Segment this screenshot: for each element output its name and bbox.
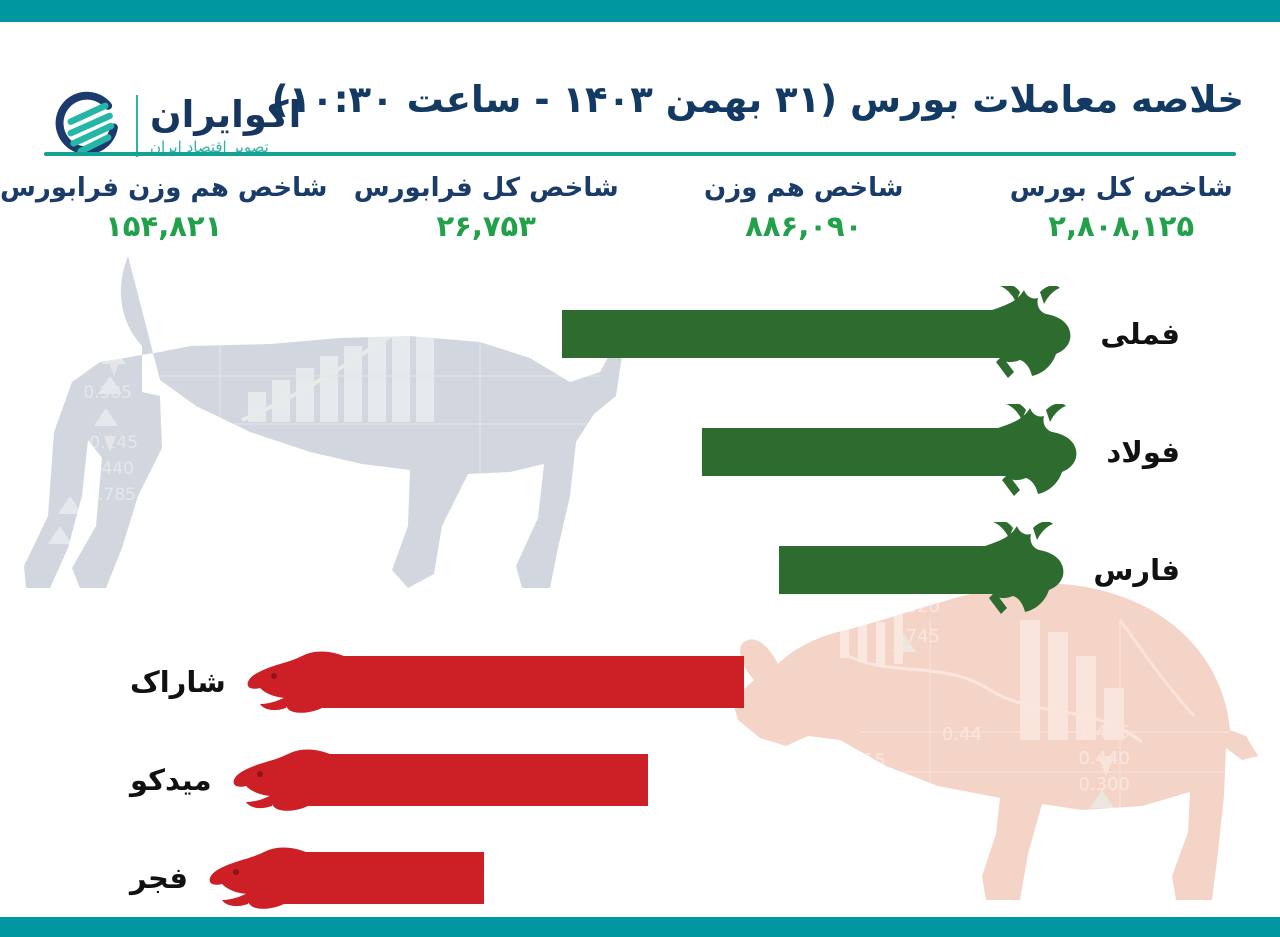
index-card-total-farabourse: شاخص کل فرابورس ۲۶,۷۵۳: [327, 172, 645, 268]
brand-block: اکوایران تصویر اقتصاد ایران: [52, 80, 332, 172]
index-value: ۸۸۶,۰۹۰: [645, 208, 963, 246]
index-card-equal-weight-farabourse: شاخص هم وزن فرابورس ۱۵۴,۸۲۱: [0, 172, 327, 268]
bar-row-negative-2: میدکو: [130, 732, 648, 828]
header-divider: [44, 152, 1236, 156]
index-value: ۲,۸۰۸,۱۲۵: [962, 208, 1280, 246]
bar-label: فجر: [130, 861, 188, 895]
bull-head-icon: [779, 522, 1075, 618]
bear-head-icon: [244, 634, 744, 730]
bull-head-icon: [702, 404, 1088, 500]
index-card-equal-weight: شاخص هم وزن ۸۸۶,۰۹۰: [645, 172, 963, 268]
bar-row-negative-3: فجر: [130, 830, 484, 926]
page-title: خلاصه معاملات بورس (۳۱ بهمن ۱۴۰۳ - ساعت …: [584, 78, 1244, 121]
bar-label: فملی: [1100, 317, 1180, 351]
bar-label: میدکو: [130, 763, 212, 797]
bar-row-positive-3: فارس: [779, 522, 1180, 618]
bull-head-icon: [562, 286, 1082, 382]
index-value: ۲۶,۷۵۳: [327, 208, 645, 246]
bar-label: شاراک: [130, 665, 226, 699]
header: خلاصه معاملات بورس (۳۱ بهمن ۱۴۰۳ - ساعت …: [0, 34, 1280, 146]
index-card-total-bourse: شاخص کل بورس ۲,۸۰۸,۱۲۵: [962, 172, 1280, 268]
bar-label: فارس: [1093, 553, 1180, 587]
bar-row-positive-2: فولاد: [702, 404, 1180, 500]
brand-name: اکوایران: [150, 96, 301, 133]
vertical-divider-icon: [136, 95, 138, 157]
index-label: شاخص هم وزن: [645, 172, 963, 205]
impact-bar-chart: فملی فولاد: [0, 276, 1280, 906]
index-value: ۱۵۴,۸۲۱: [0, 208, 327, 246]
infographic-page: خلاصه معاملات بورس (۳۱ بهمن ۱۴۰۳ - ساعت …: [0, 0, 1280, 937]
top-accent-rail: [0, 0, 1280, 22]
brand-words: اکوایران تصویر اقتصاد ایران: [150, 96, 301, 156]
bar-row-positive-1: فملی: [562, 286, 1180, 382]
bear-head-icon: [230, 732, 648, 828]
index-label: شاخص کل بورس: [962, 172, 1280, 205]
index-label: شاخص هم وزن فرابورس: [0, 172, 327, 205]
bar-row-negative-1: شاراک: [130, 634, 744, 730]
bar-label: فولاد: [1106, 435, 1180, 469]
bear-head-icon: [206, 830, 484, 926]
index-label: شاخص کل فرابورس: [327, 172, 645, 205]
index-summary-row: شاخص کل بورس ۲,۸۰۸,۱۲۵ شاخص هم وزن ۸۸۶,۰…: [0, 172, 1280, 268]
